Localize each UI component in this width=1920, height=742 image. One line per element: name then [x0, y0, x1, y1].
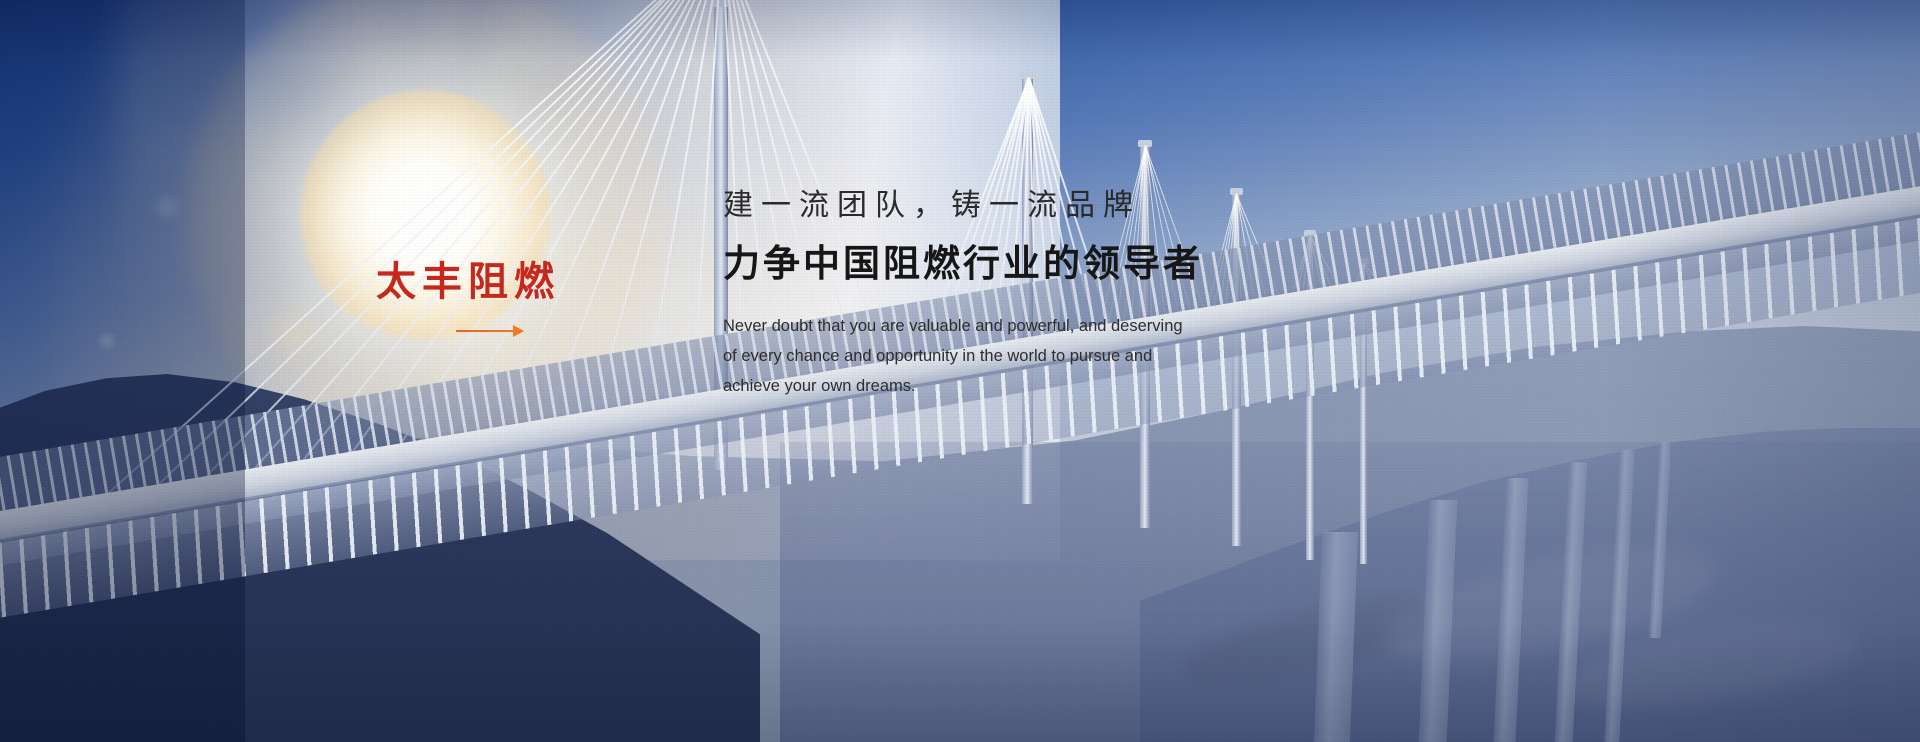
- brand-logo-text: 太丰阻燃: [376, 262, 626, 302]
- description-line-3: achieve your own dreams.: [723, 371, 1193, 401]
- arrow-head: [513, 325, 524, 337]
- description-paragraph: Never doubt that you are valuable and po…: [723, 311, 1193, 401]
- headline-subtitle: 建一流团队，铸一流品牌: [723, 186, 1203, 225]
- hero-banner: 太丰阻燃 建一流团队，铸一流品牌 力争中国阻燃行业的领导者 Never doub…: [0, 0, 1920, 742]
- description-line-2: of every chance and opportunity in the w…: [723, 341, 1193, 371]
- arrow-shaft: [456, 330, 516, 332]
- brand-logo[interactable]: 太丰阻燃: [376, 262, 626, 338]
- arrow-right-icon: [456, 324, 524, 338]
- headline-block: 建一流团队，铸一流品牌 力争中国阻燃行业的领导者 Never doubt tha…: [723, 186, 1203, 401]
- banner-content: 太丰阻燃 建一流团队，铸一流品牌 力争中国阻燃行业的领导者 Never doub…: [0, 0, 1920, 742]
- page-title: 力争中国阻燃行业的领导者: [723, 239, 1203, 289]
- description-line-1: Never doubt that you are valuable and po…: [723, 311, 1193, 341]
